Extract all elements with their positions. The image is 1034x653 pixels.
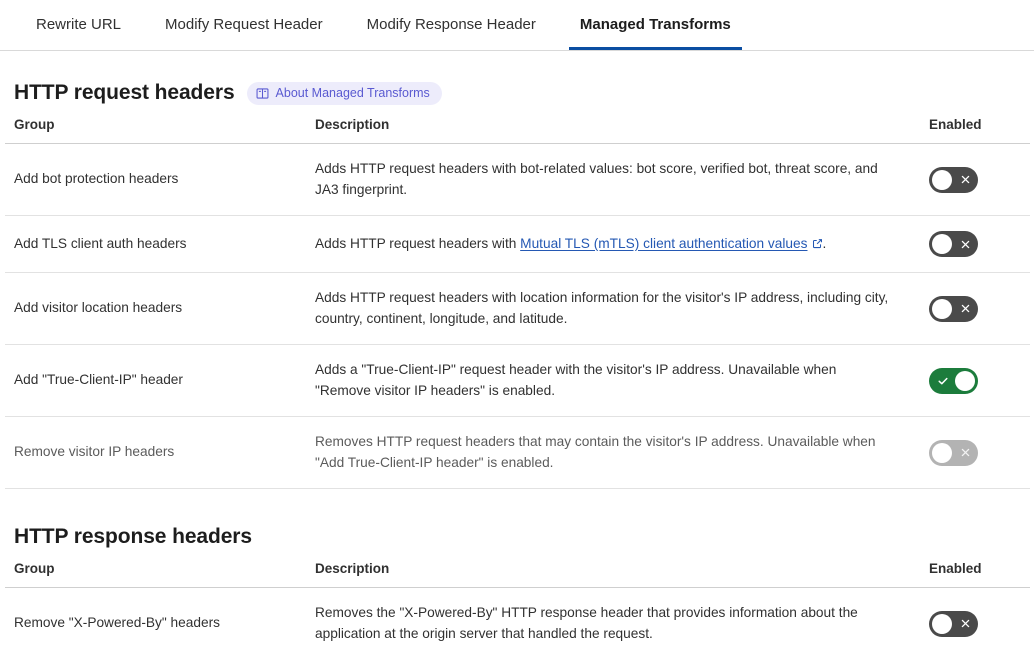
close-icon [954,296,977,322]
toggle-wrapper [929,296,1030,322]
tab-bar-divider [0,50,1034,51]
about-badge-label: About Managed Transforms [276,86,430,101]
request-headers-table: Group Description Enabled Add bot protec… [5,117,1030,489]
description-text-prefix: Adds HTTP request headers with [315,236,520,251]
table-header-row: Group Description Enabled [5,561,1030,588]
row-enabled-cell [920,588,1030,653]
table-row: Add "True-Client-IP" headerAdds a "True-… [5,345,1030,417]
row-enabled-cell [920,345,1030,417]
enabled-toggle[interactable] [929,167,978,193]
column-header-enabled: Enabled [920,561,1030,588]
tab-rewrite-url[interactable]: Rewrite URL [14,0,143,49]
check-icon [931,368,954,394]
row-description: Adds HTTP request headers with bot-relat… [310,144,920,216]
enabled-toggle[interactable] [929,231,978,257]
row-enabled-cell [920,216,1030,273]
toggle-knob [932,443,952,463]
toggle-knob [955,371,975,391]
toggle-knob [932,170,952,190]
row-description: Adds HTTP request headers with location … [310,273,920,345]
close-icon [954,611,977,637]
row-enabled-cell [920,273,1030,345]
tab-managed-transforms[interactable]: Managed Transforms [558,0,753,49]
toggle-knob [932,299,952,319]
row-group-name: Add TLS client auth headers [5,216,310,273]
column-header-enabled: Enabled [920,117,1030,144]
row-group-name: Remove "X-Powered-By" headers [5,588,310,653]
response-section-header: HTTP response headers [5,489,1029,561]
column-header-group: Group [5,561,310,588]
table-row: Add bot protection headersAdds HTTP requ… [5,144,1030,216]
close-icon [954,440,977,466]
toggle-knob [932,234,952,254]
link-label: Mutual TLS (mTLS) client authentication … [520,236,807,251]
enabled-toggle [929,440,978,466]
table-row: Remove "X-Powered-By" headersRemoves the… [5,588,1030,653]
close-icon [954,231,977,257]
tab-modify-response-header[interactable]: Modify Response Header [345,0,558,49]
row-description: Adds a "True-Client-IP" request header w… [310,345,920,417]
row-description: Removes the "X-Powered-By" HTTP response… [310,588,920,653]
row-description: Adds HTTP request headers with Mutual TL… [310,216,920,273]
enabled-toggle[interactable] [929,611,978,637]
toggle-wrapper [929,231,1030,257]
table-row: Add TLS client auth headersAdds HTTP req… [5,216,1030,273]
toggle-knob [932,614,952,634]
row-group-name: Add visitor location headers [5,273,310,345]
enabled-toggle[interactable] [929,296,978,322]
row-group-name: Remove visitor IP headers [5,417,310,489]
book-icon [256,87,269,100]
row-description: Removes HTTP request headers that may co… [310,417,920,489]
page-content: HTTP request headers About Managed Trans… [0,51,1034,653]
request-section-header: HTTP request headers About Managed Trans… [5,51,1029,117]
description-text-suffix: . [823,236,827,251]
about-managed-transforms-badge[interactable]: About Managed Transforms [247,82,442,105]
table-header-row: Group Description Enabled [5,117,1030,144]
close-icon [954,167,977,193]
toggle-wrapper [929,167,1030,193]
page-title-response: HTTP response headers [14,525,252,549]
external-link-icon [812,238,823,249]
http-request-headers-section: HTTP request headers About Managed Trans… [5,51,1029,489]
tab-modify-request-header[interactable]: Modify Request Header [143,0,345,49]
http-response-headers-section: HTTP response headers Group Description … [5,489,1029,653]
page-title-request: HTTP request headers [14,81,235,105]
toggle-wrapper [929,611,1030,637]
tab-bar: Rewrite URLModify Request HeaderModify R… [0,0,1034,51]
column-header-description: Description [310,561,920,588]
row-enabled-cell [920,144,1030,216]
table-row: Add visitor location headersAdds HTTP re… [5,273,1030,345]
column-header-description: Description [310,117,920,144]
mtls-documentation-link[interactable]: Mutual TLS (mTLS) client authentication … [520,236,807,251]
toggle-wrapper [929,368,1030,394]
row-group-name: Add "True-Client-IP" header [5,345,310,417]
row-enabled-cell [920,417,1030,489]
column-header-group: Group [5,117,310,144]
response-headers-table: Group Description Enabled Remove "X-Powe… [5,561,1030,653]
toggle-wrapper [929,440,1030,466]
row-group-name: Add bot protection headers [5,144,310,216]
table-row: Remove visitor IP headersRemoves HTTP re… [5,417,1030,489]
enabled-toggle[interactable] [929,368,978,394]
